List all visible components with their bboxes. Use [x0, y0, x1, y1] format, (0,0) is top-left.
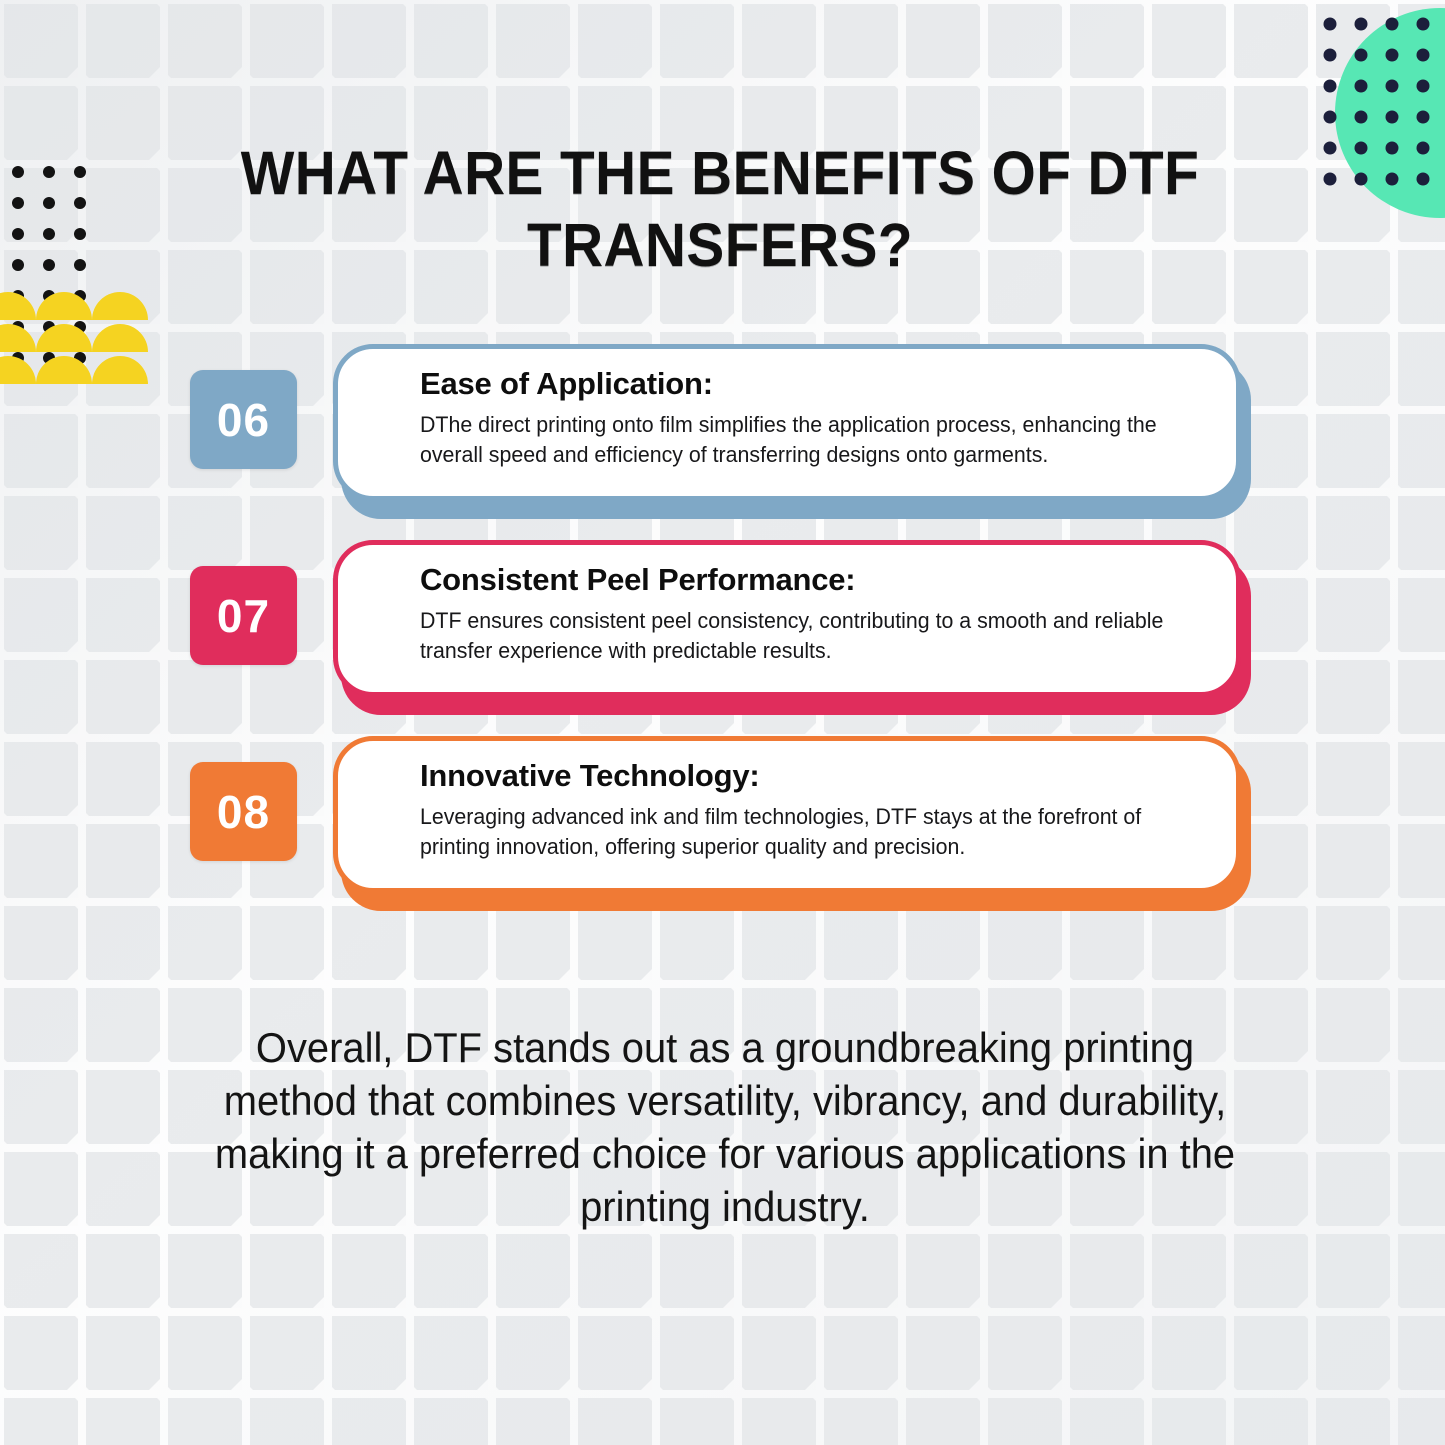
benefit-number-badge-07: 07 — [190, 566, 297, 665]
page-title: WHAT ARE THE BENEFITS OF DTF TRANSFERS? — [190, 138, 1250, 282]
benefit-card-list: 06 Ease of Application: DThe direct prin… — [0, 340, 1445, 928]
summary-paragraph: Overall, DTF stands out as a groundbreak… — [203, 1022, 1248, 1234]
card-body-07: Consistent Peel Performance: DTF ensures… — [333, 540, 1241, 697]
card-text-08: Leveraging advanced ink and film technol… — [420, 802, 1179, 861]
card-body-08: Innovative Technology: Leveraging advanc… — [333, 736, 1241, 893]
benefit-row: 08 Innovative Technology: Leveraging adv… — [0, 732, 1445, 928]
benefit-number-badge-06: 06 — [190, 370, 297, 469]
card-title-07: Consistent Peel Performance: — [420, 563, 1202, 597]
card-body-06: Ease of Application: DThe direct printin… — [333, 344, 1241, 501]
card-text-06: DThe direct printing onto film simplifie… — [420, 410, 1179, 469]
card-title-08: Innovative Technology: — [420, 759, 1202, 793]
benefit-row: 07 Consistent Peel Performance: DTF ensu… — [0, 536, 1445, 732]
card-text-07: DTF ensures consistent peel consistency,… — [420, 606, 1179, 665]
benefit-card-06[interactable]: Ease of Application: DThe direct printin… — [333, 344, 1251, 519]
infographic-canvas: WHAT ARE THE BENEFITS OF DTF TRANSFERS? … — [0, 0, 1445, 1445]
benefit-card-08[interactable]: Innovative Technology: Leveraging advanc… — [333, 736, 1251, 911]
benefit-number-badge-08: 08 — [190, 762, 297, 861]
benefit-card-07[interactable]: Consistent Peel Performance: DTF ensures… — [333, 540, 1251, 715]
benefit-row: 06 Ease of Application: DThe direct prin… — [0, 340, 1445, 536]
navy-dot-grid-icon — [1320, 2, 1445, 202]
card-title-06: Ease of Application: — [420, 367, 1202, 401]
